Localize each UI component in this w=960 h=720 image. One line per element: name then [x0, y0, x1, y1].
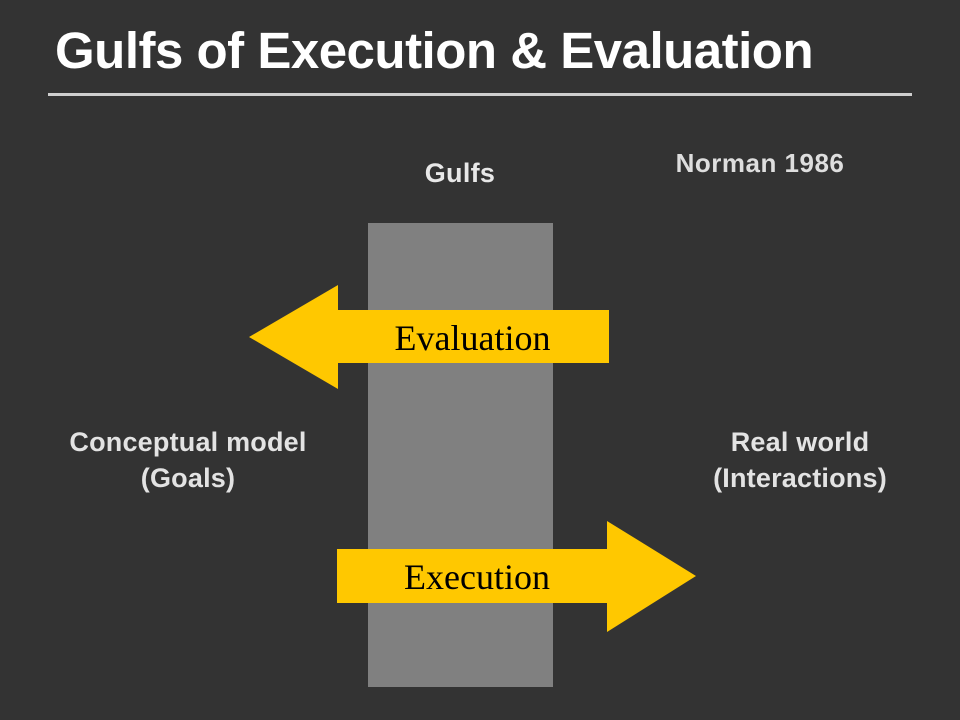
slide-canvas: Gulfs of Execution & Evaluation Gulfs No… — [0, 0, 960, 720]
citation-label: Norman 1986 — [620, 148, 900, 179]
left-label-line1: Conceptual model — [69, 427, 306, 457]
right-label-line2: (Interactions) — [650, 460, 950, 496]
right-side-label: Real world (Interactions) — [650, 424, 950, 496]
page-title: Gulfs of Execution & Evaluation — [55, 20, 915, 82]
right-label-line1: Real world — [731, 427, 870, 457]
left-side-label: Conceptual model (Goals) — [18, 424, 358, 496]
execution-arrow-label: Execution — [352, 559, 602, 595]
left-label-line2: (Goals) — [18, 460, 358, 496]
evaluation-arrow-label: Evaluation — [345, 320, 600, 356]
gulfs-center-label: Gulfs — [360, 158, 560, 189]
title-divider — [48, 93, 912, 96]
